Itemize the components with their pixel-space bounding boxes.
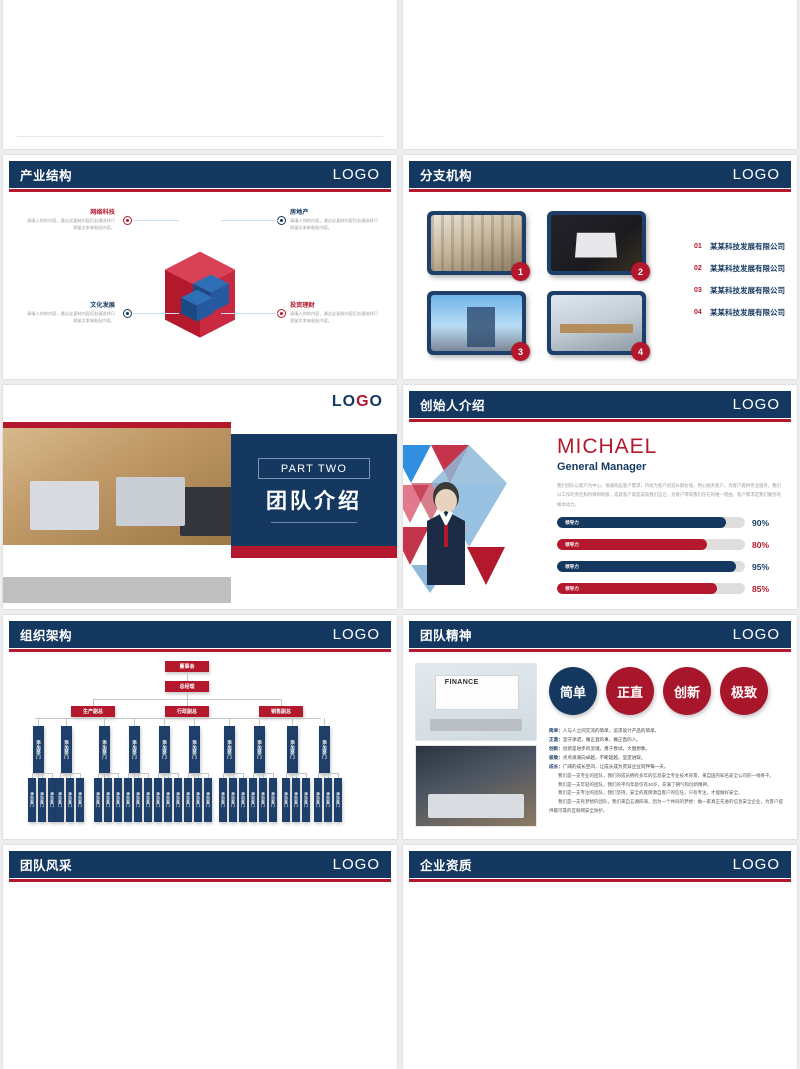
divider-line: [17, 136, 383, 137]
org-node-subdepartment[interactable]: 添加部门: [28, 778, 36, 822]
org-node-subdepartment[interactable]: 添加部门: [76, 778, 84, 822]
item-text: 某某科技发展有限公司: [710, 263, 785, 274]
skill-row: 领导力 80%: [557, 539, 789, 550]
org-node-subdepartment[interactable]: 添加部门: [124, 778, 132, 822]
slide-header: 团队精神 LOGO: [409, 621, 791, 648]
org-node-department[interactable]: 添加部门: [224, 726, 235, 774]
slide-body: 董事会 总经理 生产副总 行政副总 销售副总 添加部门添加部门添加部门添加部门添…: [9, 655, 391, 833]
org-node-subdepartment[interactable]: 添加部门: [269, 778, 277, 822]
skill-value: 95%: [752, 562, 769, 572]
leader-line: [133, 220, 179, 221]
dept-label: 添加部门: [64, 740, 70, 760]
org-line: [229, 718, 230, 726]
skill-bars: 领导力 90% 领导力 80% 领导力: [557, 517, 789, 605]
org-line: [35, 718, 321, 719]
skill-label: 领导力: [557, 520, 579, 526]
slide-header: 团队风采 LOGO: [9, 851, 391, 878]
leader-line: [221, 220, 278, 221]
org-line: [259, 718, 260, 726]
page-title: 创始人介绍: [420, 395, 485, 414]
principle-line: 创新：创新是进步的灵魂，勇于尝试，大胆想象。: [549, 745, 787, 754]
progress-fill: 领导力: [557, 583, 717, 594]
progress-fill: 领导力: [557, 517, 726, 528]
branch-number-badge: 4: [631, 342, 650, 361]
skill-label: 领导力: [557, 542, 579, 548]
principle-line: 极致：点点滴滴向卓越，不断超越，坚定进取。: [549, 754, 787, 763]
skill-label: 领导力: [557, 564, 579, 570]
item-number: 04: [694, 309, 710, 316]
org-node-subdepartment[interactable]: 添加部门: [56, 778, 64, 822]
org-node-vp-sales[interactable]: 销售副总: [259, 706, 303, 717]
label-body: 请填入你的内容，通过这复制内容后右键选择只保留文本来粘贴内容。: [290, 218, 382, 231]
org-node-gm[interactable]: 总经理: [165, 681, 209, 692]
spirit-paragraph: 我们是一支专业的团队，我们的成员拥有多年的信息安全专业技术背景，来自国内知名安全…: [549, 772, 787, 781]
value-circle-excellence[interactable]: 极致: [720, 667, 768, 715]
label-body: 请填入你的内容，通过这复制内容后右键选择只保留文本来粘贴内容。: [290, 311, 382, 324]
org-line: [128, 773, 148, 774]
label-name: 文化发展: [23, 300, 115, 309]
principle-value: 创新是进步的灵魂，勇于尝试，大胆想象。: [563, 746, 650, 751]
slide-team-showcase[interactable]: 团队风采 LOGO: [3, 845, 397, 1069]
org-node-subdepartment[interactable]: 添加部门: [164, 778, 172, 822]
principle-key: 创新：: [549, 746, 563, 751]
org-node-subdepartment[interactable]: 添加部门: [282, 778, 290, 822]
principle-value: 坚守承诺，做正直的事，做正直的人。: [563, 737, 641, 742]
3d-cube-diagram: [135, 222, 265, 352]
slide-section-divider[interactable]: LOGO PART TWO 团队介绍: [3, 385, 397, 609]
city-buildings-photo: [431, 295, 522, 351]
org-node-subdepartment[interactable]: 添加部门: [104, 778, 112, 822]
org-node-subdepartment[interactable]: 添加部门: [219, 778, 227, 822]
org-line: [286, 773, 306, 774]
page-title: 分支机构: [420, 165, 472, 184]
slide-company-stats[interactable]: 不影响效果。 员工人数：5900人 涉及产业：8大产业 子公司：290家 销售覆…: [3, 0, 397, 149]
org-line: [281, 699, 282, 706]
logo: LOGO: [333, 626, 380, 643]
slide-body: 1 2 3 4 01 某某科技发展有限公司 02 某: [409, 195, 791, 373]
org-node-department[interactable]: 添加部门: [129, 726, 140, 774]
org-line: [118, 773, 119, 778]
item-number: 03: [694, 287, 710, 294]
logo-part-a: LO: [332, 393, 356, 410]
org-line: [38, 718, 39, 726]
value-circle-integrity[interactable]: 正直: [606, 667, 654, 715]
branch-card-1[interactable]: 1: [427, 211, 526, 275]
principle-line: 简单：人与人之间交流的简单，追求设计产品的简单。: [549, 727, 787, 736]
item-number: 01: [694, 243, 710, 250]
hands-laptop-photo: [415, 745, 537, 827]
slide-body: 网络科技 请填入你的内容，通过这复制内容后右键选择只保留文本来粘贴内容。 房地产…: [9, 195, 391, 373]
slide-founder[interactable]: 创始人介绍 LOGO: [403, 385, 797, 609]
page-title: 企业资质: [420, 855, 472, 874]
org-node-subdepartment[interactable]: 添加部门: [114, 778, 122, 822]
slide-gallery: 不影响效果。 员工人数：5900人 涉及产业：8大产业 子公司：290家 销售覆…: [0, 0, 800, 1069]
org-line: [208, 773, 209, 778]
logo: LOGO: [733, 396, 780, 413]
page-title: 团队精神: [420, 625, 472, 644]
industry-label-network: 网络科技 请填入你的内容，通过这复制内容后右键选择只保留文本来粘贴内容。: [23, 207, 115, 231]
slide-body: FINANCE 简单 正直 创新 极致 简单：人与人之间交流的简单，追求设计产品…: [409, 655, 791, 833]
spirit-paragraph: 我们是一支有梦想的团队，我们来自五湖四海，因为一个共同的梦想：做一家真正先进的信…: [549, 798, 787, 816]
org-node-subdepartment[interactable]: 添加部门: [302, 778, 310, 822]
list-item[interactable]: 02 某某科技发展有限公司: [694, 263, 785, 274]
part-label: PART TWO: [258, 458, 370, 479]
org-line: [194, 718, 195, 726]
org-line: [178, 773, 179, 778]
logo: LOGO: [733, 626, 780, 643]
org-node-subdepartment[interactable]: 添加部门: [134, 778, 142, 822]
org-node-subdepartment[interactable]: 添加部门: [334, 778, 342, 822]
org-line: [223, 773, 243, 774]
org-node-department[interactable]: 添加部门: [189, 726, 200, 774]
principle-value: 人与人之间交流的简单，追求设计产品的简单。: [563, 728, 659, 733]
org-line: [148, 773, 149, 778]
org-node-subdepartment[interactable]: 添加部门: [38, 778, 46, 822]
branch-number-badge: 3: [511, 342, 530, 361]
slide-header: 产业结构 LOGO: [9, 161, 391, 188]
org-line: [306, 773, 307, 778]
org-line: [93, 699, 94, 706]
progress-fill: 领导力: [557, 561, 736, 572]
desk-workspace-photo: [3, 428, 231, 545]
section-panel: PART TWO 团队介绍: [231, 434, 397, 546]
spirit-text-block: 简单：人与人之间交流的简单，追求设计产品的简单。 正直：坚守承诺，做正直的事，做…: [549, 727, 787, 816]
org-node-subdepartment[interactable]: 添加部门: [259, 778, 267, 822]
org-node-subdepartment[interactable]: 添加部门: [324, 778, 332, 822]
item-text: 某某科技发展有限公司: [710, 285, 785, 296]
dept-label: 添加部门: [162, 740, 168, 760]
value-circles: 简单 正直 创新 极致: [549, 667, 768, 715]
label-body: 请填入你的内容，通过这复制内容后右键选择只保留文本来粘贴内容。: [23, 218, 115, 231]
org-line: [187, 672, 188, 681]
org-line: [324, 718, 325, 726]
org-node-subdepartment[interactable]: 添加部门: [184, 778, 192, 822]
skill-value: 85%: [752, 584, 769, 594]
founder-portrait-graphic: [403, 435, 541, 595]
progress-track: 领导力: [557, 561, 745, 572]
label-body: 请填入你的内容，通过这复制内容后右键选择只保留文本来粘贴内容。: [23, 311, 115, 324]
dept-label: 添加部门: [322, 740, 328, 760]
list-item[interactable]: 03 某某科技发展有限公司: [694, 285, 785, 296]
org-line: [104, 718, 105, 726]
laptop-desk-photo: [551, 215, 642, 271]
org-chart: 董事会 总经理 生产副总 行政副总 销售副总 添加部门添加部门添加部门添加部门添…: [9, 655, 391, 833]
org-node-subdepartment[interactable]: 添加部门: [292, 778, 300, 822]
branch-card-3[interactable]: 3: [427, 291, 526, 355]
leader-line: [133, 313, 179, 314]
list-item[interactable]: 04 某某科技发展有限公司: [694, 307, 785, 318]
skill-value: 80%: [752, 540, 769, 550]
branch-card-2[interactable]: 2: [547, 211, 646, 275]
logo: LOGO: [733, 856, 780, 873]
org-line: [98, 773, 118, 774]
spirit-paragraph: 我们是一支年轻的团队，我们的平均年龄仅有30岁，充满了朝气和创新精神。: [549, 781, 787, 790]
org-node-vp-admin[interactable]: 行政副总: [165, 706, 209, 717]
dept-label: 添加部门: [257, 740, 263, 760]
item-text: 某某科技发展有限公司: [710, 307, 785, 318]
org-line: [66, 718, 67, 726]
org-node-subdepartment[interactable]: 添加部门: [204, 778, 212, 822]
item-text: 某某科技发展有限公司: [710, 241, 785, 252]
skill-row: 领导力 85%: [557, 583, 789, 594]
org-node-department[interactable]: 添加部门: [287, 726, 298, 774]
marker-dot-culture[interactable]: [123, 309, 132, 318]
skill-label: 领导力: [557, 586, 579, 592]
slide-org-chart[interactable]: 组织架构 LOGO 董事会 总经理 生产副总 行政副总 销售副总 添加部门添加部…: [3, 615, 397, 839]
org-line: [32, 773, 52, 774]
principle-line: 正直：坚守承诺，做正直的事，做正直的人。: [549, 736, 787, 745]
org-node-subdepartment[interactable]: 添加部门: [239, 778, 247, 822]
skill-value: 90%: [752, 518, 769, 528]
org-node-subdepartment[interactable]: 添加部门: [174, 778, 182, 822]
org-node-department[interactable]: 添加部门: [99, 726, 110, 774]
dept-label: 添加部门: [36, 740, 42, 760]
org-line: [187, 692, 188, 699]
industry-label-finance: 投资理财 请填入你的内容，通过这复制内容后右键选择只保留文本来粘贴内容。: [290, 300, 382, 324]
branch-company-list: 01 某某科技发展有限公司 02 某某科技发展有限公司 03 某某科技发展有限公…: [694, 241, 785, 329]
principle-key: 极致：: [549, 755, 563, 760]
org-node-department[interactable]: 添加部门: [254, 726, 265, 774]
leader-line: [221, 313, 278, 314]
progress-track: 领导力: [557, 517, 745, 528]
open-office-photo: [551, 295, 642, 351]
branch-number-badge: 2: [631, 262, 650, 281]
page-title: 组织架构: [20, 625, 72, 644]
org-line: [52, 773, 53, 778]
org-node-vp-production[interactable]: 生产副总: [71, 706, 115, 717]
spirit-paragraph: 我们是一支专注的团队，我们坚持，安全的底牌源自客户的信任，只有专注，才能做好安全…: [549, 789, 787, 798]
page-title: 产业结构: [20, 165, 72, 184]
org-node-department[interactable]: 添加部门: [33, 726, 44, 774]
value-circle-simple[interactable]: 简单: [549, 667, 597, 715]
dept-label: 添加部门: [290, 740, 296, 760]
item-number: 02: [694, 265, 710, 272]
marker-dot-realestate[interactable]: [277, 216, 286, 225]
principle-line: 成长：广阔的成长空间，让成长成为贯穿企业同伴每一天。: [549, 763, 787, 772]
marker-dot-network[interactable]: [123, 216, 132, 225]
logo-part-b: G: [356, 393, 369, 410]
slide-body: MICHAEL General Manager 我们团队以客户为中心，快速响应客…: [409, 425, 791, 603]
logo: LOGO: [733, 166, 780, 183]
founder-role: General Manager: [557, 461, 646, 473]
slide-industry-structure[interactable]: 产业结构 LOGO: [3, 155, 397, 379]
page-title: 团队风采: [20, 855, 72, 874]
founder-description: 我们团队以客户为中心，快速响应客户需求，持续为客户创造长期价值，用心服务客户，为…: [557, 481, 783, 509]
org-node-subdepartment[interactable]: 添加部门: [229, 778, 237, 822]
org-line: [187, 699, 188, 706]
skill-row: 领导力 95%: [557, 561, 789, 572]
org-line: [292, 718, 293, 726]
dept-label: 添加部门: [227, 740, 233, 760]
org-node-subdepartment[interactable]: 添加部门: [249, 778, 257, 822]
org-node-department[interactable]: 添加部门: [159, 726, 170, 774]
org-node-subdepartment[interactable]: 添加部门: [94, 778, 102, 822]
org-node-subdepartment[interactable]: 添加部门: [144, 778, 152, 822]
org-line: [338, 773, 339, 778]
principle-key: 简单：: [549, 728, 563, 733]
industry-label-culture: 文化发展 请填入你的内容，通过这复制内容后右键选择只保留文本来粘贴内容。: [23, 300, 115, 324]
finance-label: FINANCE: [445, 679, 479, 686]
org-node-subdepartment[interactable]: 添加部门: [66, 778, 74, 822]
label-name: 投资理财: [290, 300, 382, 309]
slide-team-spirit[interactable]: 团队精神 LOGO FINANCE 简单 正直 创新 极致 简单：人与人之间交流…: [403, 615, 797, 839]
divider-rule: [271, 522, 357, 523]
slide-timeline[interactable]: 2013 2014 2015 2016 2017 2018 子公司成立: [403, 0, 797, 149]
list-item[interactable]: 01 某某科技发展有限公司: [694, 241, 785, 252]
org-line: [243, 773, 244, 778]
founder-name: MICHAEL: [557, 435, 657, 459]
org-line: [253, 773, 273, 774]
org-node-department[interactable]: 添加部门: [61, 726, 72, 774]
finance-whiteboard-photo: FINANCE: [415, 663, 537, 741]
logo: LOGO: [332, 393, 383, 411]
logo-part-c: O: [370, 393, 383, 410]
org-node-department[interactable]: 添加部门: [319, 726, 330, 774]
org-node-board[interactable]: 董事会: [165, 661, 209, 672]
org-line: [158, 773, 178, 774]
dept-label: 添加部门: [132, 740, 138, 760]
industry-label-realestate: 房地产 请填入你的内容，通过这复制内容后右键选择只保留文本来粘贴内容。: [290, 207, 382, 231]
slide-header: 分支机构 LOGO: [409, 161, 791, 188]
principle-value: 点点滴滴向卓越，不断超越，坚定进取。: [563, 755, 646, 760]
branch-number-badge: 1: [511, 262, 530, 281]
dept-label: 添加部门: [102, 740, 108, 760]
slide-branches[interactable]: 分支机构 LOGO 1 2 3 4 01 某某科: [403, 155, 797, 379]
org-line: [134, 718, 135, 726]
slide-header: 企业资质 LOGO: [409, 851, 791, 878]
label-name: 房地产: [290, 207, 382, 216]
marker-dot-finance[interactable]: [277, 309, 286, 318]
branch-card-4[interactable]: 4: [547, 291, 646, 355]
label-name: 网络科技: [23, 207, 115, 216]
org-line: [80, 773, 81, 778]
org-node-subdepartment[interactable]: 添加部门: [314, 778, 322, 822]
skill-row: 领导力 90%: [557, 517, 789, 528]
org-node-subdepartment[interactable]: 添加部门: [194, 778, 202, 822]
dept-label: 添加部门: [192, 740, 198, 760]
org-node-subdepartment[interactable]: 添加部门: [48, 778, 56, 822]
progress-track: 领导力: [557, 583, 745, 594]
org-node-subdepartment[interactable]: 添加部门: [154, 778, 162, 822]
org-line: [273, 773, 274, 778]
org-line: [188, 773, 208, 774]
principle-value: 广阔的成长空间，让成长成为贯穿企业同伴每一天。: [563, 764, 669, 769]
slide-certifications[interactable]: 企业资质 LOGO: [403, 845, 797, 1069]
org-line: [60, 773, 80, 774]
progress-fill: 领导力: [557, 539, 707, 550]
office-interior-photo: [431, 215, 522, 271]
logo: LOGO: [333, 856, 380, 873]
slide-header: 组织架构 LOGO: [9, 621, 391, 648]
org-line: [164, 718, 165, 726]
org-line: [318, 773, 338, 774]
slide-header: 创始人介绍 LOGO: [409, 391, 791, 418]
principle-key: 成长：: [549, 764, 563, 769]
value-circle-innovation[interactable]: 创新: [663, 667, 711, 715]
gray-placeholder-bar: [3, 577, 231, 603]
principle-key: 正直：: [549, 737, 563, 742]
progress-track: 领导力: [557, 539, 745, 550]
section-heading: 团队介绍: [231, 485, 397, 515]
logo: LOGO: [333, 166, 380, 183]
